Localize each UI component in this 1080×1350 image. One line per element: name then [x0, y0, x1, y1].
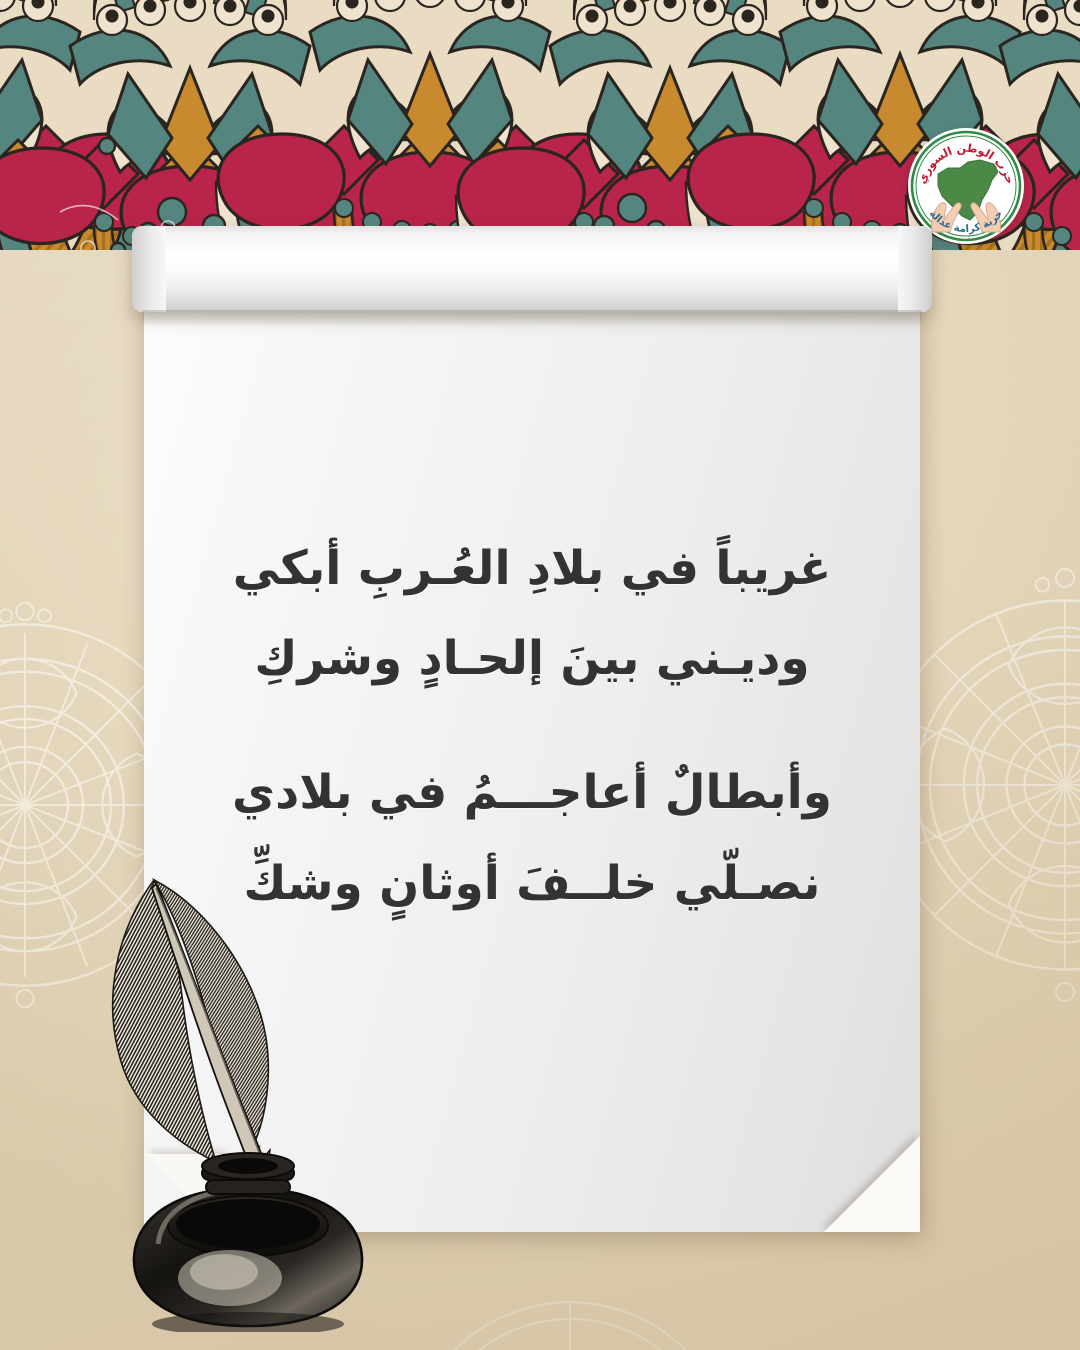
poem-verse: غريباً في بلادِ العُـربِ أبكي وديـني بين… — [178, 524, 886, 704]
poem-line: غريباً في بلادِ العُـربِ أبكي — [178, 524, 886, 614]
poem-line: وأبطالٌ أعاجـــمُ في بلادي — [178, 748, 886, 838]
poem-line: وديـني بينَ إلحـادٍ وشركِ — [178, 614, 886, 704]
scroll-roll-shadow — [142, 310, 922, 326]
quill-and-inkwell-illustration — [96, 862, 396, 1332]
inkwell-icon — [134, 1153, 362, 1332]
poster-canvas: حزب الوطن السوري حرية كرامة عدالة غريباً… — [0, 0, 1080, 1350]
scroll-roll-top — [132, 226, 932, 312]
